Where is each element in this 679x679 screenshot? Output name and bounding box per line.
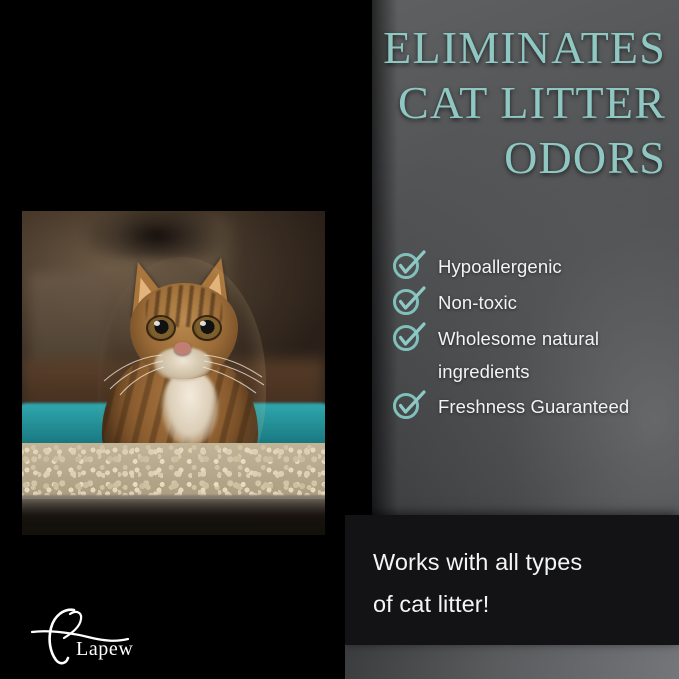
litter-pellets: [22, 443, 325, 501]
headline-line-1: ELIMINATES: [300, 20, 666, 75]
feature-label: Wholesome natural ingredients: [438, 322, 670, 388]
callout-line-2: of cat litter!: [373, 583, 663, 625]
headline-line-3: ODORS: [300, 130, 666, 185]
headline: ELIMINATES CAT LITTER ODORS: [300, 20, 666, 185]
feature-item-wholesome-natural-ingredients: Wholesome natural ingredients: [390, 322, 670, 388]
callout-line-1: Works with all types: [373, 541, 663, 583]
check-slot: [390, 322, 438, 352]
feature-label: Non-toxic: [438, 286, 670, 319]
feature-item-non-toxic: Non-toxic: [390, 286, 670, 320]
check-slot: [390, 250, 438, 280]
feature-label: Freshness Guaranteed: [438, 390, 670, 423]
check-circle-icon: [392, 286, 426, 316]
brand-logo: Lapew: [24, 604, 154, 666]
photo-bottom-shadow: [22, 499, 325, 535]
product-photo: [22, 211, 325, 535]
check-circle-icon: [392, 390, 426, 420]
check-circle-icon: [392, 250, 426, 280]
background-bottom-strip: [345, 645, 679, 679]
feature-item-hypoallergenic: Hypoallergenic: [390, 250, 670, 284]
check-slot: [390, 286, 438, 316]
check-slot: [390, 390, 438, 420]
feature-list: Hypoallergenic Non-toxic Wholesome natur…: [390, 250, 670, 426]
feature-item-freshness-guaranteed: Freshness Guaranteed: [390, 390, 670, 424]
logo-wordmark: Lapew: [76, 638, 133, 661]
feature-label: Hypoallergenic: [438, 250, 670, 283]
callout-text: Works with all types of cat litter!: [373, 541, 663, 625]
callout-panel: Works with all types of cat litter!: [345, 515, 679, 645]
check-circle-icon: [392, 322, 426, 352]
headline-line-2: CAT LITTER: [300, 75, 666, 130]
advertisement-canvas: ELIMINATES CAT LITTER ODORS Hypoallergen…: [0, 0, 679, 679]
